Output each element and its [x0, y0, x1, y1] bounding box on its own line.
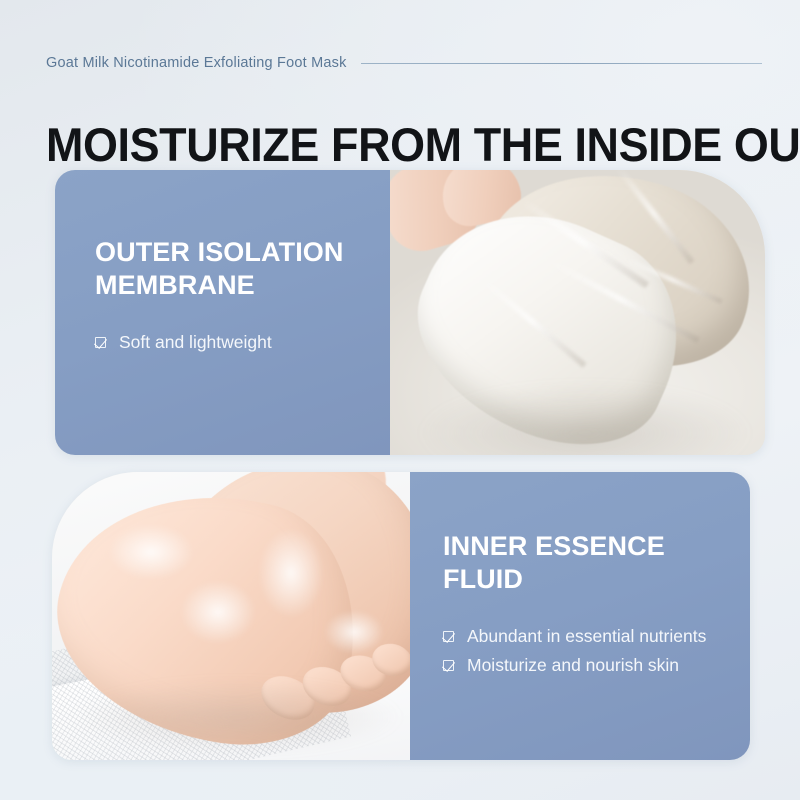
feature-card-2-photo [52, 472, 410, 760]
product-feature-poster: Goat Milk Nicotinamide Exfoliating Foot … [0, 0, 800, 800]
list-item: Moisturize and nourish skin [443, 651, 750, 680]
feature-card-outer-isolation-membrane: OUTER ISOLATION MEMBRANE Soft and lightw… [55, 170, 765, 455]
list-item: Abundant in essential nutrients [443, 622, 750, 651]
bullet-text: Soft and lightweight [119, 328, 272, 357]
eyebrow-divider-rule [361, 63, 762, 64]
feature-card-1-title: OUTER ISOLATION MEMBRANE [95, 236, 390, 302]
feature-card-inner-essence-fluid: INNER ESSENCE FLUID Abundant in essentia… [52, 472, 750, 760]
feature-card-1-bullet-list: Soft and lightweight [95, 328, 390, 357]
feature-card-1-text-panel: OUTER ISOLATION MEMBRANE Soft and lightw… [55, 170, 390, 455]
feature-card-2-text-panel: INNER ESSENCE FLUID Abundant in essentia… [410, 472, 750, 760]
bullet-text: Moisturize and nourish skin [467, 651, 679, 680]
feature-card-1-photo [390, 170, 765, 455]
feature-card-2-title: INNER ESSENCE FLUID [443, 530, 750, 596]
eyebrow-row: Goat Milk Nicotinamide Exfoliating Foot … [46, 52, 762, 74]
feature-card-2-bullet-list: Abundant in essential nutrients Moisturi… [443, 622, 750, 680]
page-title: MOISTURIZE FROM THE INSIDE OUT [46, 117, 734, 173]
bullet-text: Abundant in essential nutrients [467, 622, 706, 651]
list-item: Soft and lightweight [95, 328, 390, 357]
checkbox-check-icon [95, 335, 110, 350]
checkbox-check-icon [443, 629, 458, 644]
checkbox-check-icon [443, 658, 458, 673]
product-name-eyebrow: Goat Milk Nicotinamide Exfoliating Foot … [46, 55, 347, 71]
